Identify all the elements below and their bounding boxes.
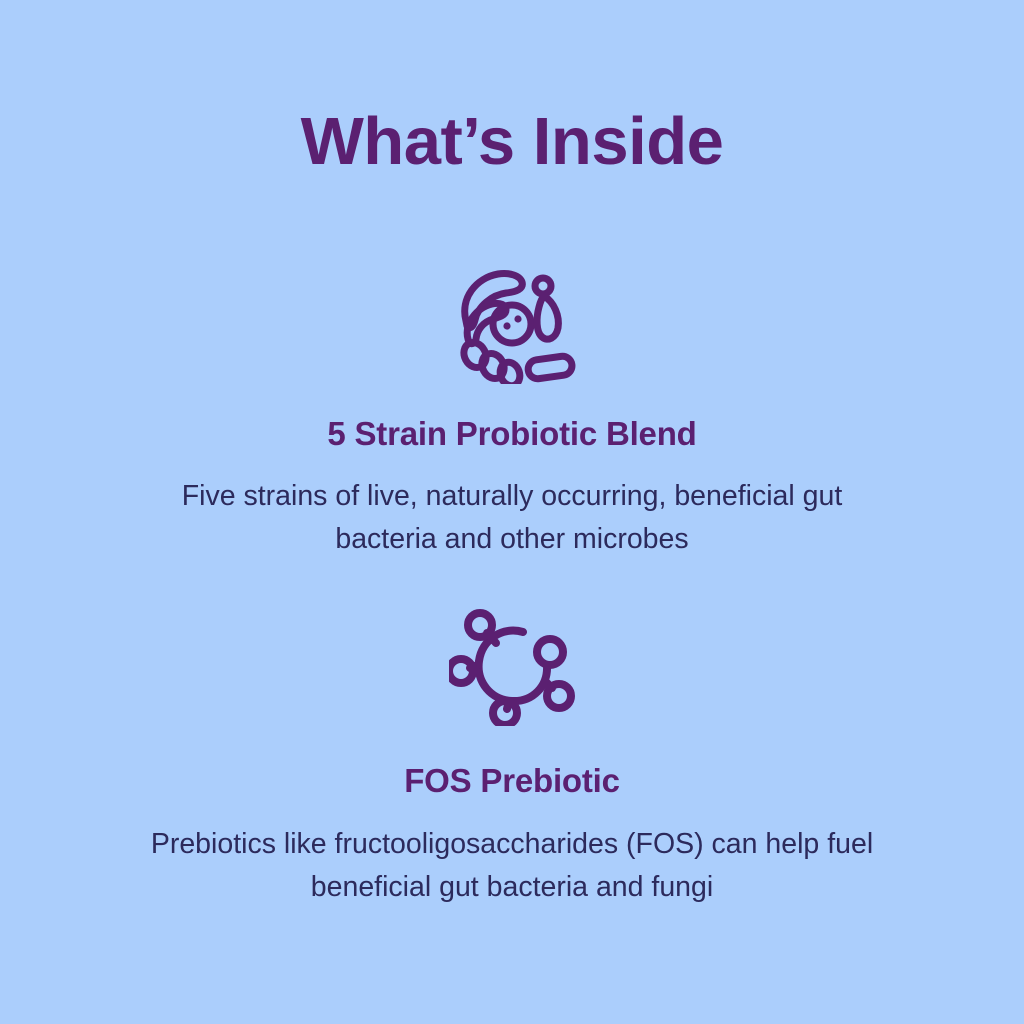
page-title: What’s Inside: [0, 108, 1024, 175]
bacterium-bacillus-rod: [527, 355, 573, 380]
feature-probiotic-heading: 5 Strain Probiotic Blend: [327, 417, 696, 450]
feature-probiotic-body: Five strains of live, naturally occurrin…: [182, 475, 843, 561]
feature-probiotic: 5 Strain Probiotic Blend Five strains of…: [0, 262, 1024, 561]
feature-prebiotic-body-line-2: beneficial gut bacteria and fungi: [151, 866, 873, 909]
feature-probiotic-body-line-1: Five strains of live, naturally occurrin…: [182, 475, 843, 518]
bacterium-club-knob: [535, 278, 551, 294]
molecule-node-left: [449, 659, 473, 683]
coccus-dot-right: [514, 315, 521, 322]
feature-prebiotic-body: Prebiotics like fructooligosaccharides (…: [151, 823, 873, 909]
feature-prebiotic-body-line-1: Prebiotics like fructooligosaccharides (…: [151, 823, 873, 866]
whats-inside-panel: What’s Inside: [0, 0, 1024, 1024]
molecule-node-right-upper: [537, 639, 563, 665]
bacterium-club-body: [537, 296, 558, 339]
feature-probiotic-body-line-2: bacteria and other microbes: [182, 518, 843, 561]
bacterium-coccus-body: [493, 305, 531, 343]
feature-prebiotic: FOS Prebiotic Prebiotics like fructoolig…: [0, 608, 1024, 909]
bacterium-chain-3: [497, 359, 523, 384]
molecule-central-ring: [479, 631, 547, 702]
molecule-node-bottom: [493, 701, 517, 725]
probiotic-bacteria-icon: [448, 262, 576, 384]
molecule-node-right-lower: [547, 684, 571, 708]
feature-prebiotic-heading: FOS Prebiotic: [404, 764, 620, 797]
coccus-dot-left: [503, 322, 510, 329]
molecule-node-upper-left: [468, 613, 492, 637]
prebiotic-molecule-icon: [449, 608, 575, 726]
